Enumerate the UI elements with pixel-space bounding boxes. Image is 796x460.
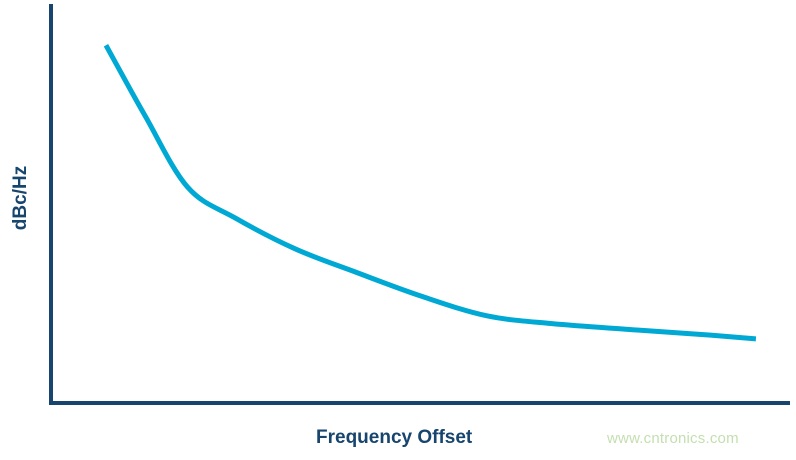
watermark-text: www.cntronics.com bbox=[607, 430, 739, 447]
chart-plot-area bbox=[0, 0, 796, 460]
phase-noise-curve bbox=[106, 45, 756, 339]
y-axis-label: dBc/Hz bbox=[0, 138, 42, 258]
y-axis-label-text: dBc/Hz bbox=[10, 166, 32, 230]
x-axis-label: Frequency Offset bbox=[316, 427, 472, 449]
phase-noise-chart: dBc/Hz Frequency Offset www.cntronics.co… bbox=[0, 0, 796, 460]
